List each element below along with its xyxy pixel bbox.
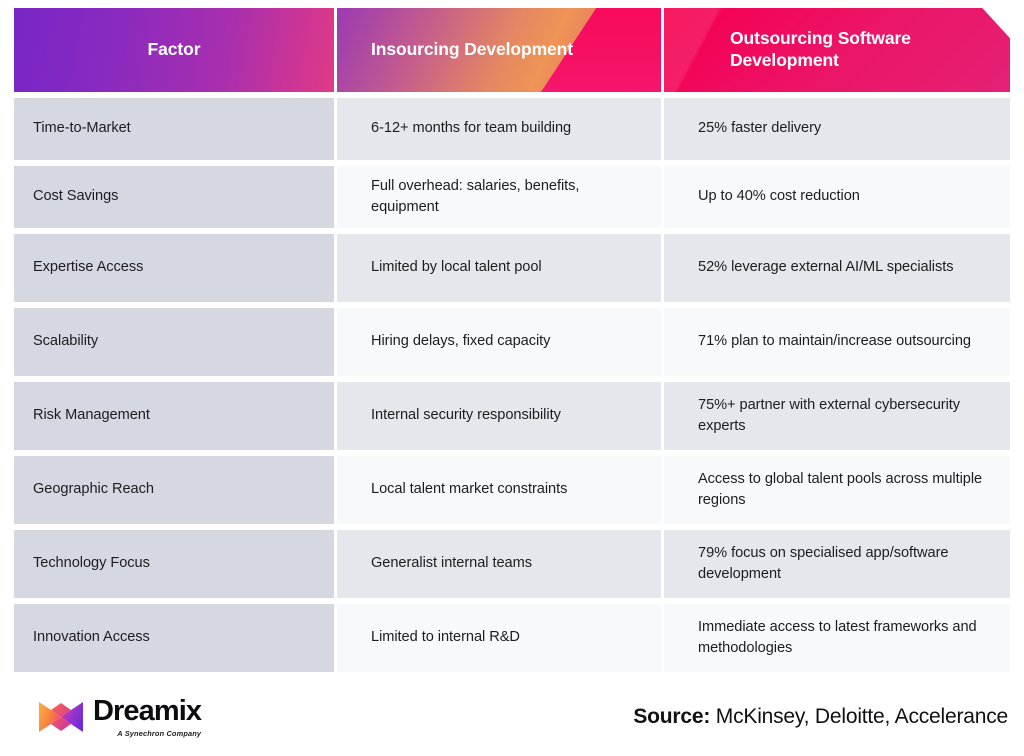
row-factor-cell: Technology Focus	[14, 530, 334, 598]
row-outsourcing-cell: 79% focus on specialised app/software de…	[664, 530, 1010, 598]
column-header-factor: Factor	[14, 8, 334, 92]
dreamix-name: Dreamix	[93, 697, 201, 726]
dreamix-logo: Dreamix A Synechron Company	[38, 697, 201, 738]
row-outsourcing-cell: Immediate access to latest frameworks an…	[664, 604, 1010, 672]
row-insourcing-cell: Generalist internal teams	[337, 530, 661, 598]
row-factor-cell: Geographic Reach	[14, 456, 334, 524]
comparison-infographic: Factor Insourcing Development Outsourcin…	[0, 0, 1024, 756]
row-factor-cell: Expertise Access	[14, 234, 334, 302]
dreamix-ribbon-logo-icon	[38, 698, 84, 736]
row-factor-cell: Time-to-Market	[14, 98, 334, 160]
row-outsourcing-cell: 75%+ partner with external cybersecurity…	[664, 382, 1010, 450]
row-insourcing-cell: Limited by local talent pool	[337, 234, 661, 302]
table-row: Innovation Access Limited to internal R&…	[14, 604, 1010, 672]
column-header-outsourcing-label: Outsourcing Software Development	[730, 28, 1010, 72]
comparison-table: Factor Insourcing Development Outsourcin…	[14, 8, 1010, 678]
row-factor-cell: Cost Savings	[14, 166, 334, 228]
table-row: Geographic Reach Local talent market con…	[14, 456, 1010, 524]
source-value: McKinsey, Deloitte, Accelerance	[710, 705, 1008, 728]
row-outsourcing-cell: 25% faster delivery	[664, 98, 1010, 160]
table-header-row: Factor Insourcing Development Outsourcin…	[14, 8, 1010, 92]
table-row: Time-to-Market 6-12+ months for team bui…	[14, 98, 1010, 160]
table-row: Expertise Access Limited by local talent…	[14, 234, 1010, 302]
table-row: Technology Focus Generalist internal tea…	[14, 530, 1010, 598]
source-label: Source:	[633, 705, 710, 728]
column-header-insourcing-label: Insourcing Development	[371, 39, 573, 61]
source-credit: Source: McKinsey, Deloitte, Accelerance	[633, 705, 1008, 729]
row-insourcing-cell: 6-12+ months for team building	[337, 98, 661, 160]
table-row: Risk Management Internal security respon…	[14, 382, 1010, 450]
row-insourcing-cell: Hiring delays, fixed capacity	[337, 308, 661, 376]
column-header-factor-label: Factor	[148, 39, 201, 61]
row-factor-cell: Risk Management	[14, 382, 334, 450]
column-header-outsourcing: Outsourcing Software Development	[664, 8, 1010, 92]
dreamix-wordmark: Dreamix A Synechron Company	[93, 697, 201, 738]
row-outsourcing-cell: Up to 40% cost reduction	[664, 166, 1010, 228]
row-insourcing-cell: Internal security responsibility	[337, 382, 661, 450]
row-insourcing-cell: Full overhead: salaries, benefits, equip…	[337, 166, 661, 228]
row-insourcing-cell: Limited to internal R&D	[337, 604, 661, 672]
table-row: Scalability Hiring delays, fixed capacit…	[14, 308, 1010, 376]
row-factor-cell: Innovation Access	[14, 604, 334, 672]
row-factor-cell: Scalability	[14, 308, 334, 376]
column-header-insourcing: Insourcing Development	[337, 8, 661, 92]
row-outsourcing-cell: 71% plan to maintain/increase outsourcin…	[664, 308, 1010, 376]
row-outsourcing-cell: Access to global talent pools across mul…	[664, 456, 1010, 524]
row-outsourcing-cell: 52% leverage external AI/ML specialists	[664, 234, 1010, 302]
row-insourcing-cell: Local talent market constraints	[337, 456, 661, 524]
table-row: Cost Savings Full overhead: salaries, be…	[14, 166, 1010, 228]
footer: Dreamix A Synechron Company Source: McKi…	[0, 678, 1024, 756]
dreamix-tagline: A Synechron Company	[117, 729, 201, 738]
